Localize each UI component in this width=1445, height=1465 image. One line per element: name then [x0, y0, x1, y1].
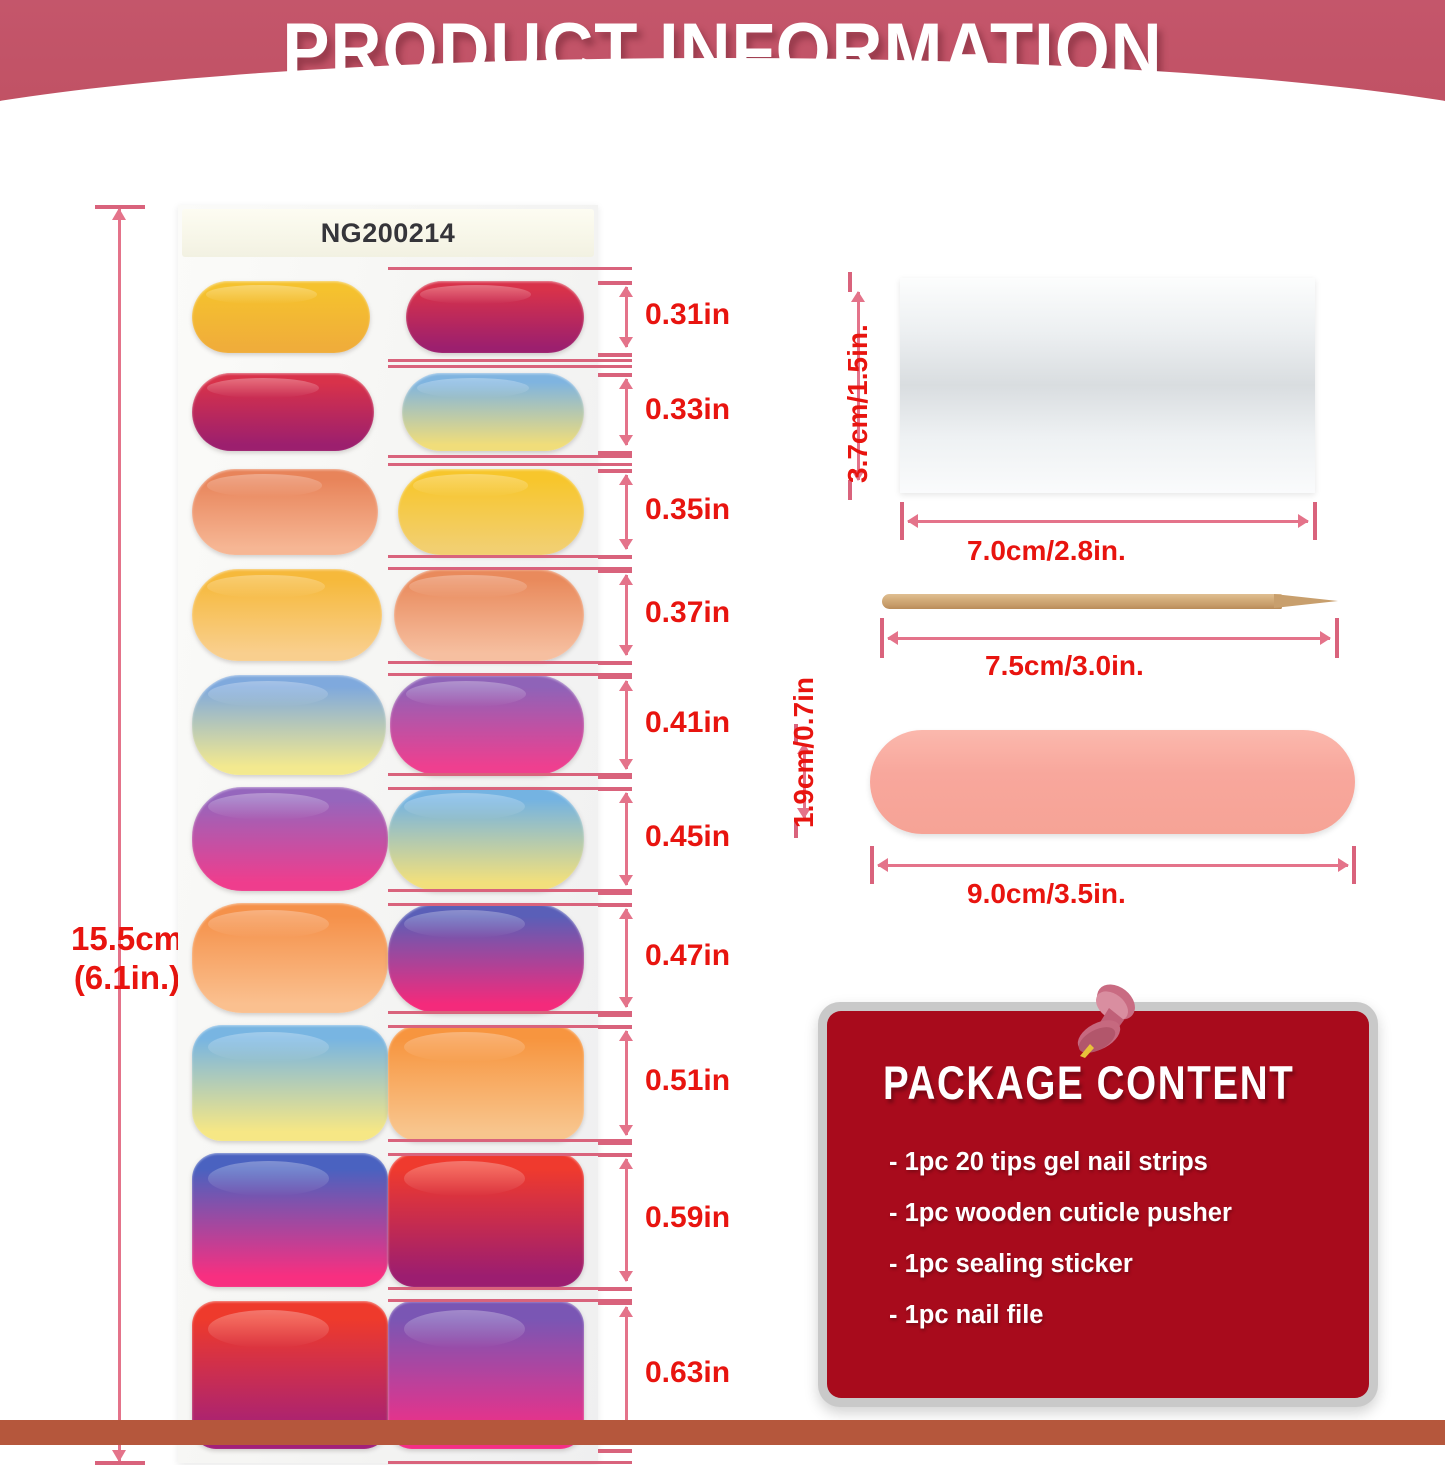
pusher-body — [882, 594, 1282, 609]
strip-row — [178, 469, 598, 555]
strip-row — [178, 787, 598, 891]
dimension-tick-top — [598, 903, 632, 907]
strip-size-label-0.35in: 0.35in — [645, 493, 730, 527]
dimension-arrow — [625, 287, 628, 347]
dimension-guide-line — [388, 1461, 632, 1464]
dimension-arrow — [625, 1031, 628, 1135]
dimension-tick-bottom — [598, 1449, 632, 1453]
strip-row — [178, 1025, 598, 1141]
dimension-guide-line — [388, 365, 632, 368]
sheet-code-header: NG200214 — [182, 209, 594, 257]
dimension-guide-line — [388, 903, 632, 906]
dimension-guide-line — [388, 267, 632, 270]
dimension-arrow — [625, 1159, 628, 1281]
strip-size-label-0.51in: 0.51in — [645, 1064, 730, 1098]
dimension-arrow — [625, 681, 628, 769]
pusher-length-cap-left — [880, 618, 884, 658]
strip-size-label-0.37in: 0.37in — [645, 596, 730, 630]
pusher-length-label: 7.5cm/3.0in. — [985, 650, 1144, 682]
pusher-pointed-tip — [1274, 594, 1338, 608]
dimension-guide-line — [388, 1153, 632, 1156]
dimension-guide-line — [388, 555, 632, 558]
nail-strip-grid — [178, 263, 598, 1461]
nail-strip-left-0.33in — [192, 373, 374, 451]
nail-file-image — [870, 730, 1355, 834]
strip-size-label-0.31in: 0.31in — [645, 298, 730, 332]
dimension-tick-top — [598, 569, 632, 573]
sealing-sticker-image — [900, 278, 1315, 493]
strip-row — [178, 569, 598, 661]
nail-strip-right-0.33in — [402, 373, 584, 451]
dimension-guide-line — [388, 1025, 632, 1028]
strip-size-label-0.33in: 0.33in — [645, 393, 730, 427]
dimension-guide-line — [388, 359, 632, 362]
dimension-guide-line — [388, 455, 632, 458]
package-content-item-0: - 1pc 20 tips gel nail strips — [889, 1148, 1335, 1177]
dimension-guide-line — [388, 1139, 632, 1142]
dimension-tick-top — [598, 1025, 632, 1029]
nail-strip-right-0.47in — [388, 903, 584, 1013]
dimension-guide-line — [388, 1011, 632, 1014]
dimension-guide-line — [388, 463, 632, 466]
dimension-guide-line — [388, 1299, 632, 1302]
strip-size-label-0.59in: 0.59in — [645, 1201, 730, 1235]
dimension-tick-top — [598, 787, 632, 791]
package-content-item-2: - 1pc sealing sticker — [889, 1250, 1335, 1279]
nail-strip-right-0.35in — [398, 469, 584, 555]
total-height-arrow — [118, 209, 121, 1461]
sticker-width-arrow — [908, 520, 1308, 523]
strip-row — [178, 281, 598, 353]
strip-row — [178, 1153, 598, 1287]
dimension-arrow — [625, 379, 628, 445]
sticker-width-cap-right — [1313, 502, 1317, 540]
dimension-tick-bottom — [598, 353, 632, 357]
sticker-height-label: 3.7cm/1.5in. — [842, 324, 874, 483]
file-width-cap-left — [870, 846, 874, 884]
nail-strip-right-0.31in — [406, 281, 584, 353]
footer-bar — [0, 1420, 1445, 1445]
pusher-length-cap-right — [1335, 618, 1339, 658]
header-banner: PRODUCT INFORMATION — [0, 0, 1445, 118]
nail-strip-sheet-section: 15.5cm (6.1in.) NG200214 0.31in0.33in0.3… — [0, 150, 720, 1420]
nail-strip-sheet: NG200214 — [178, 205, 598, 1463]
strip-row — [178, 675, 598, 775]
nail-strip-left-0.51in — [192, 1025, 388, 1141]
product-code: NG200214 — [321, 218, 456, 249]
dimension-guide-line — [388, 787, 632, 790]
package-content-item-3: - 1pc nail file — [889, 1301, 1335, 1330]
file-height-label: 1.9cm/0.7in — [788, 677, 820, 828]
pushpin-icon — [1054, 980, 1150, 1076]
accessories-section: 3.7cm/1.5in. 7.0cm/2.8in. 7.5cm/3.0in. 1… — [730, 150, 1445, 1420]
sticker-width-cap-left — [900, 502, 904, 540]
nail-strip-left-0.37in — [192, 569, 382, 661]
dimension-guide-line — [388, 661, 632, 664]
dimension-arrow — [625, 909, 628, 1007]
dimension-arrow — [625, 475, 628, 549]
strip-size-label-0.45in: 0.45in — [645, 820, 730, 854]
sticker-height-cap-bottom — [848, 480, 852, 500]
dimension-tick-top — [598, 1153, 632, 1157]
nail-strip-left-0.59in — [192, 1153, 388, 1287]
dimension-guide-line — [388, 673, 632, 676]
dimension-tick-top — [598, 373, 632, 377]
dimension-arrow — [625, 575, 628, 655]
package-content-section: PACKAGE CONTENT - 1pc 20 tips gel nail s… — [818, 980, 1378, 1410]
dimension-guide-line — [388, 889, 632, 892]
package-content-item-1: - 1pc wooden cuticle pusher — [889, 1199, 1335, 1228]
file-width-label: 9.0cm/3.5in. — [967, 878, 1126, 910]
nail-strip-left-0.41in — [192, 675, 386, 775]
strip-dimension-ruler: 0.31in0.33in0.35in0.37in0.41in0.45in0.47… — [598, 150, 720, 1420]
nail-strip-right-0.37in — [394, 569, 584, 661]
strip-size-label-0.47in: 0.47in — [645, 939, 730, 973]
nail-strip-left-0.35in — [192, 469, 378, 555]
dimension-tick-top — [598, 469, 632, 473]
nail-strip-left-0.45in — [192, 787, 388, 891]
file-width-cap-right — [1352, 846, 1356, 884]
dimension-guide-line — [388, 1287, 632, 1290]
strip-size-label-0.41in: 0.41in — [645, 706, 730, 740]
total-height-cap-bottom — [95, 1461, 145, 1465]
nail-strip-right-0.45in — [388, 787, 584, 891]
strip-row — [178, 903, 598, 1013]
cuticle-pusher-image — [882, 590, 1337, 612]
dimension-arrow — [625, 793, 628, 885]
package-content-list: - 1pc 20 tips gel nail strips- 1pc woode… — [861, 1148, 1335, 1330]
dimension-tick-top — [598, 675, 632, 679]
strip-size-label-0.63in: 0.63in — [645, 1356, 730, 1390]
nail-strip-left-0.47in — [192, 903, 388, 1013]
dimension-tick-top — [598, 1301, 632, 1305]
strip-row — [178, 373, 598, 451]
nail-strip-right-0.51in — [388, 1025, 584, 1141]
nail-strip-right-0.59in — [388, 1153, 584, 1287]
dimension-tick-top — [598, 281, 632, 285]
dimension-guide-line — [388, 773, 632, 776]
pusher-length-arrow — [888, 637, 1330, 640]
file-width-arrow — [878, 864, 1348, 867]
nail-strip-right-0.41in — [390, 675, 584, 775]
nail-strip-left-0.31in — [192, 281, 370, 353]
sticker-width-label: 7.0cm/2.8in. — [967, 535, 1126, 567]
dimension-guide-line — [388, 567, 632, 570]
sticker-height-cap-top — [848, 272, 852, 292]
